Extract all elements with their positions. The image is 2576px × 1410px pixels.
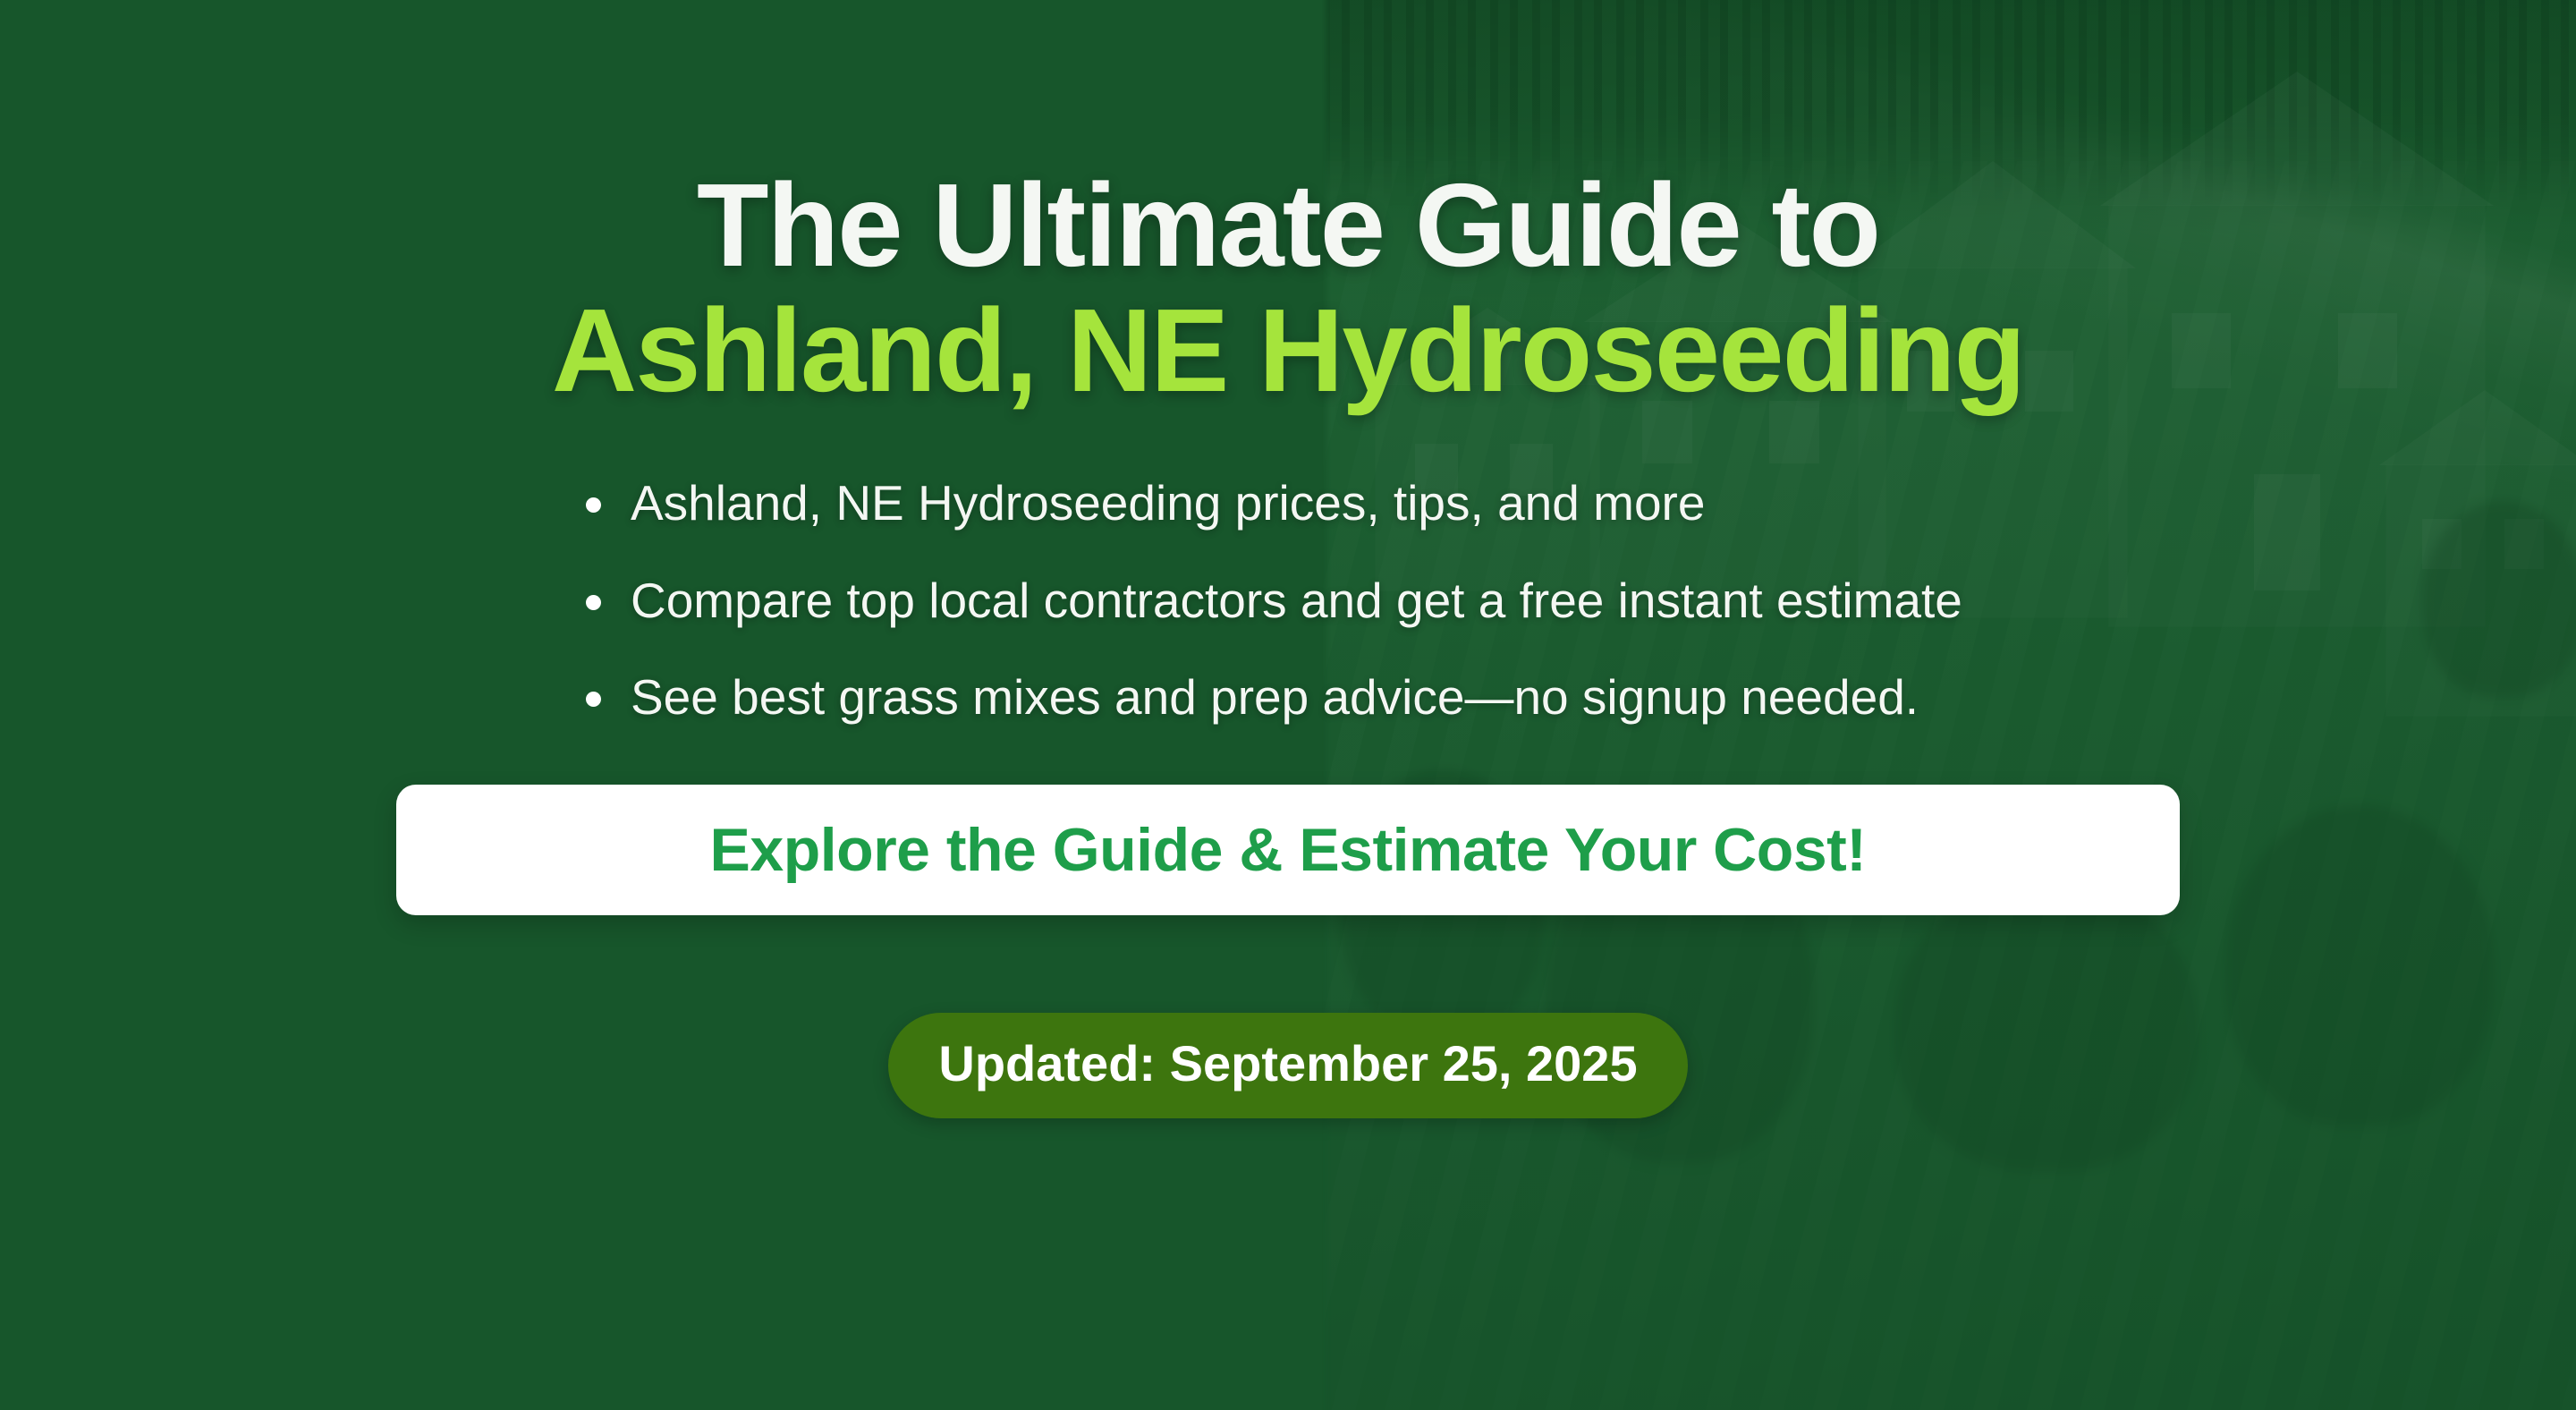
explore-guide-cta-button[interactable]: Explore the Guide & Estimate Your Cost!	[396, 785, 2180, 915]
feature-bullet-list: Ashland, NE Hydroseeding prices, tips, a…	[259, 478, 2317, 769]
headline-line-accent: Ashland, NE Hydroseeding	[552, 288, 2024, 413]
updated-date-badge: Updated: September 25, 2025	[888, 1013, 1687, 1118]
headline-line-primary: The Ultimate Guide to	[552, 163, 2024, 288]
page-title: The Ultimate Guide to Ashland, NE Hydros…	[552, 163, 2024, 413]
list-item: Ashland, NE Hydroseeding prices, tips, a…	[577, 478, 1705, 530]
list-item: Compare top local contractors and get a …	[577, 575, 1962, 627]
list-item: See best grass mixes and prep advice—no …	[577, 672, 1919, 724]
hero-content: The Ultimate Guide to Ashland, NE Hydros…	[0, 0, 2576, 1410]
hero-banner: The Ultimate Guide to Ashland, NE Hydros…	[0, 0, 2576, 1410]
